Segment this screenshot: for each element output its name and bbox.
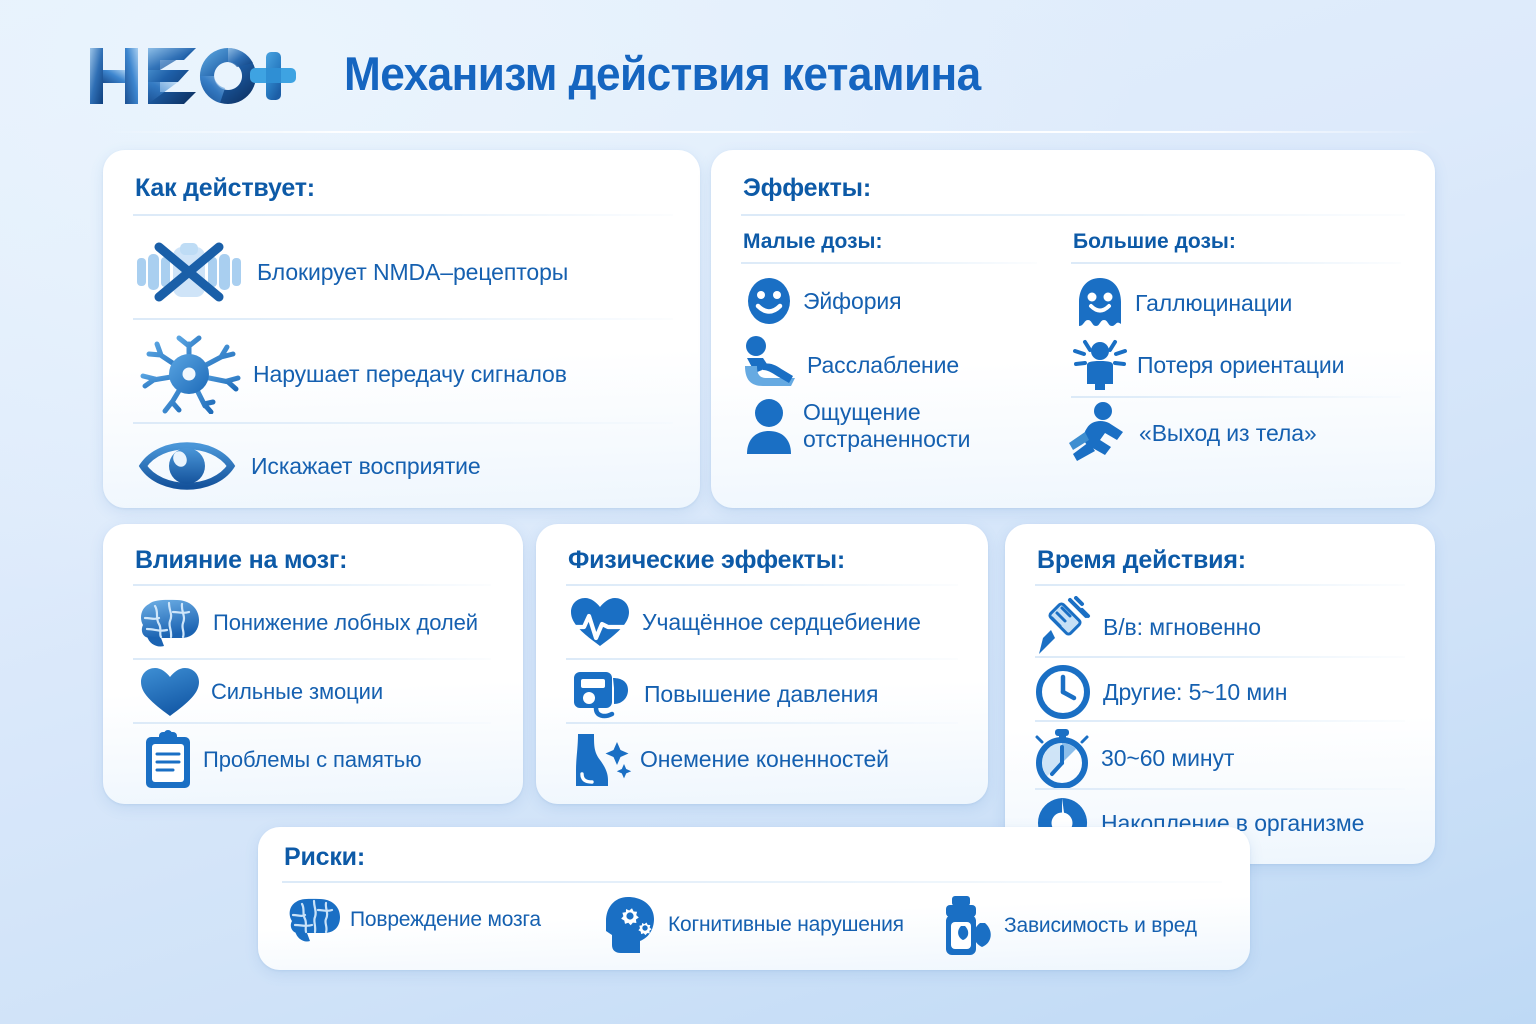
clock-icon [1035,664,1091,720]
divider [282,881,1222,883]
list-item[interactable]: Блокирует NMDA–рецепторы [135,234,675,310]
blocked-receptor-icon [135,241,243,303]
clipboard-icon [143,730,193,790]
card-title-duration: Время действия: [1037,546,1246,575]
damaged-brain-icon [286,895,342,945]
card-title-how-it-works: Как действует: [135,174,315,203]
list-item[interactable]: 30~60 минут [1033,728,1234,788]
pill-bottle-icon [940,895,996,957]
card-physical-effects: Физические эффекты: Учащённое сердцебиен… [536,524,988,804]
header-divider [104,131,1434,133]
heart-pulse-icon [568,596,632,648]
divider [133,658,491,660]
brand-logo [88,40,296,112]
page-header: Механизм действия кетамина [0,0,1536,140]
list-item-label: Понижение лобных долей [213,610,478,636]
list-item[interactable]: Когнитивные нарушения [602,895,904,955]
divider [741,262,1037,264]
eye-icon [137,437,237,495]
stopwatch-icon [1033,728,1091,788]
list-item[interactable]: Расслабление [743,336,959,394]
list-item-label: Блокирует NMDA–рецепторы [257,259,568,286]
brain-icon [137,596,203,650]
syringe-icon [1037,596,1091,658]
list-item[interactable]: Нарушает передачу сигналов [137,332,677,416]
list-item-label: Галлюцинации [1135,290,1292,317]
list-item[interactable]: Галлюцинации [1075,276,1292,330]
divider [566,722,958,724]
card-title-effects: Эффекты: [743,174,871,203]
list-item[interactable]: Искажает восприятие [137,436,677,496]
list-item[interactable]: Повреждение мозга [286,895,541,945]
dizzy-person-icon [1073,338,1127,392]
list-item-label: Проблемы с памятью [203,747,422,773]
divider [133,722,491,724]
page-title: Механизм действия кетамина [344,46,981,101]
list-item-label: В/в: мгновенно [1103,614,1261,641]
list-item-label: «Выход из тела» [1139,420,1317,447]
floating-person-icon [1067,402,1129,464]
list-item-label: Учащённое сердцебиение [642,609,921,636]
list-item-label: Искажает восприятие [251,453,481,480]
divider [1035,584,1405,586]
list-item-label: Повышение давления [644,681,878,708]
list-item[interactable]: Повышение давления [572,666,878,722]
person-bust-icon [745,398,793,454]
list-item-label: Другие: 5~10 мин [1103,679,1287,706]
list-item-label: Эйфория [803,288,902,315]
list-item[interactable]: Онемение коненностей [570,730,889,788]
list-item[interactable]: Ощущение отстраненности [745,398,970,454]
list-item[interactable]: Учащённое сердцебиение [568,596,921,648]
list-item[interactable]: Эйфория [745,276,902,326]
card-title-physical-effects: Физические эффекты: [568,546,845,575]
divider [1035,788,1405,790]
list-item-label: 30~60 минут [1101,745,1234,772]
list-item[interactable]: Понижение лобных долей [137,596,478,650]
list-item[interactable]: Сильные змоции [139,666,383,718]
head-gears-icon [602,895,660,955]
list-item[interactable]: В/в: мгновенно [1037,596,1261,658]
blood-pressure-monitor-icon [572,666,634,722]
divider [133,584,491,586]
list-item-label: Сильные змоции [211,679,383,705]
divider [1071,396,1401,398]
divider [133,214,673,216]
list-item-label: Расслабление [807,352,959,379]
card-title-risks: Риски: [284,843,365,872]
ghost-icon [1075,276,1125,330]
list-item[interactable]: Проблемы с памятью [143,730,422,790]
reclining-person-icon [743,336,797,394]
neuron-icon [137,334,241,414]
subtitle-small-doses: Малые дозы: [743,230,882,254]
card-effects: Эффекты: Малые дозы: Эйфория Расслаблени… [711,150,1435,508]
list-item-label: Потеря ориентации [1137,352,1344,379]
divider [133,422,673,424]
list-item[interactable]: Потеря ориентации [1073,338,1344,392]
list-item[interactable]: Другие: 5~10 мин [1035,664,1287,720]
card-how-it-works: Как действует: Блокируе [103,150,700,508]
card-duration: Время действия: В/в: мгновенно [1005,524,1435,864]
divider [1035,656,1405,658]
card-risks: Риски: Повреждение мозга [258,827,1250,970]
numb-foot-icon [570,730,632,788]
card-brain-impact: Влияние на мозг: Понижение лобных [103,524,523,804]
divider [1071,262,1401,264]
divider [566,584,958,586]
list-item-label: Повреждение мозга [350,908,541,932]
list-item[interactable]: «Выход из тела» [1067,402,1317,464]
divider [741,214,1405,216]
list-item-label: Зависимость и вред [1004,914,1197,938]
list-item-label: Нарушает передачу сигналов [253,361,567,388]
list-item-label: Когнитивные нарушения [668,913,904,937]
divider [133,318,673,320]
heart-icon [139,666,201,718]
smiley-face-icon [745,276,793,326]
list-item-label: Онемение коненностей [640,746,889,773]
divider [566,658,958,660]
list-item-label: Ощущение отстраненности [803,399,970,453]
list-item[interactable]: Зависимость и вред [940,895,1197,957]
divider [1035,720,1405,722]
subtitle-large-doses: Большие дозы: [1073,230,1236,254]
card-title-brain-impact: Влияние на мозг: [135,546,347,575]
